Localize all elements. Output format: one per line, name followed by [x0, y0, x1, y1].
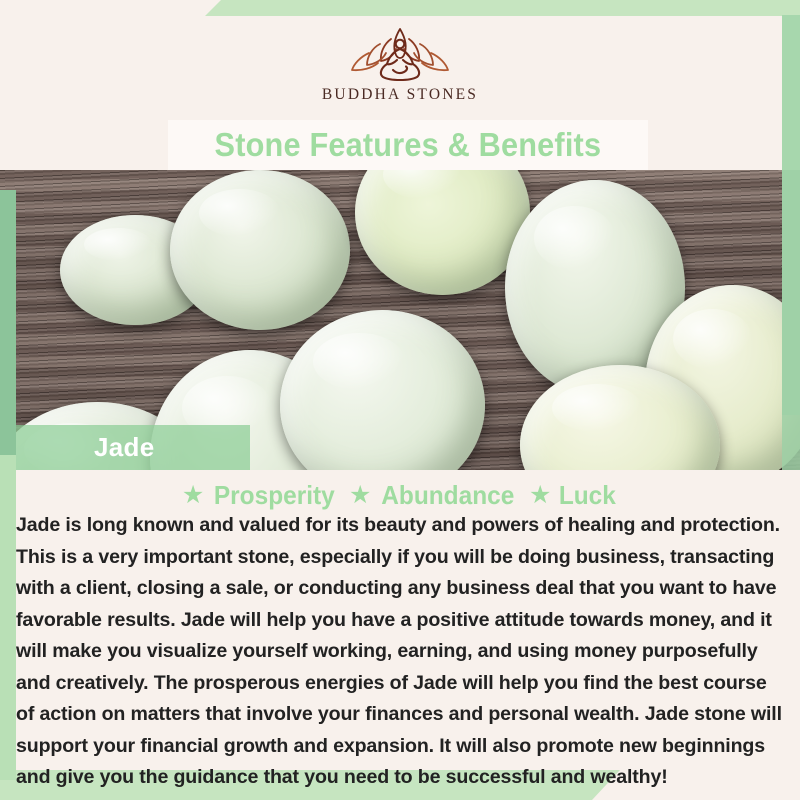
- star-icon: ★: [529, 483, 551, 508]
- benefit-item: ★ Prosperity: [182, 480, 339, 511]
- lotus-meditation-icon: [344, 22, 456, 84]
- brand-header: BUDDHA STONES: [0, 22, 800, 117]
- stone-pebble: [170, 170, 350, 330]
- page-title: Stone Features & Benefits: [215, 126, 602, 164]
- decorative-green-top-band: [205, 0, 800, 16]
- stone-name: Jade: [94, 432, 154, 463]
- stone-description: Jade is long known and valued for its be…: [16, 510, 784, 794]
- benefits-row: ★ Prosperity ★ Abundance ★ Luck: [0, 478, 800, 512]
- description-paragraph: Jade is long known and valued for its be…: [16, 510, 784, 794]
- benefit-label: Luck: [559, 480, 616, 511]
- benefit-label: Abundance: [382, 480, 515, 511]
- stone-info-poster: BUDDHA STONES Stone Features & Benefits …: [0, 0, 800, 800]
- benefit-item: ★ Luck: [529, 480, 618, 511]
- brand-name: BUDDHA STONES: [322, 86, 478, 104]
- benefit-label: Prosperity: [214, 480, 335, 511]
- star-icon: ★: [182, 483, 204, 508]
- page-title-band: Stone Features & Benefits: [168, 120, 648, 170]
- stone-name-band: Jade: [16, 425, 250, 470]
- star-icon: ★: [349, 483, 371, 508]
- benefit-item: ★ Abundance: [349, 480, 519, 511]
- decorative-green-left-accent: [0, 190, 16, 455]
- decorative-green-right-accent: [782, 170, 800, 470]
